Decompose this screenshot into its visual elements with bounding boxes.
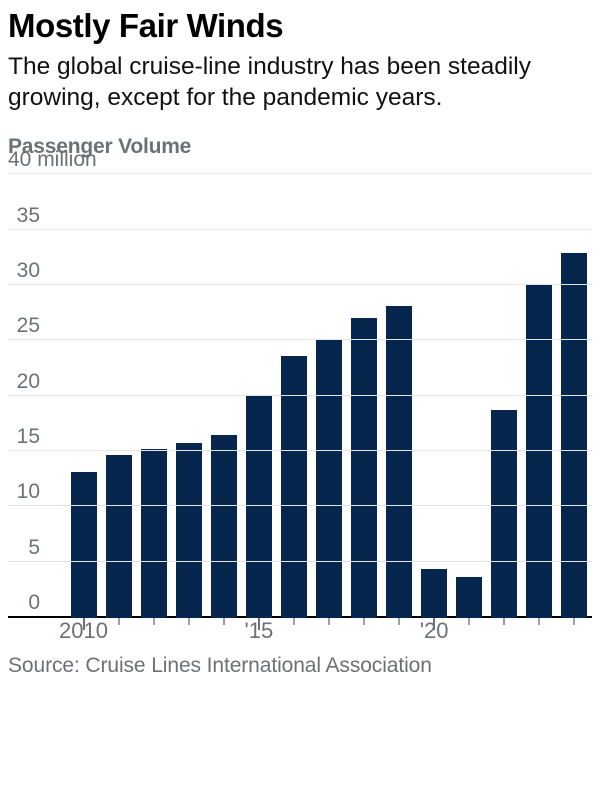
bar [491,410,517,618]
gridline [8,173,592,174]
gridline [8,395,592,396]
x-axis-labels: 2010'15'20 [66,618,592,650]
bar [246,395,272,619]
gridline [8,505,592,506]
y-axis-tick-label: 10 [8,481,40,505]
bar [386,306,412,618]
x-axis-tick-label: 2010 [59,618,108,644]
gridline [8,229,592,230]
bar-chart: 40 million35302520151050 [8,173,592,618]
y-axis-tick-label: 25 [8,315,40,339]
bar [141,449,167,618]
y-axis-tick-label: 30 [8,260,40,284]
bar [71,472,97,618]
bar [176,443,202,618]
bar [211,435,237,619]
y-axis-tick-label: 15 [8,426,40,450]
page-title: Mostly Fair Winds [8,8,592,45]
y-axis-tick-label: 0 [8,592,40,616]
source-note: Source: Cruise Lines International Assoc… [8,654,592,678]
bar [526,284,552,618]
bar-series [66,173,592,618]
y-axis-tick-label: 20 [8,371,40,395]
x-axis-tick-label: '20 [420,618,449,644]
bar [106,455,132,619]
bar [421,569,447,619]
gridline [8,284,592,285]
chart-plot-area: 40 million35302520151050 [8,173,592,618]
bar [456,577,482,618]
x-axis-tick-label: '15 [245,618,274,644]
y-axis-tick-label: 40 million [8,149,97,173]
subtitle-description: The global cruise-line industry has been… [8,52,592,113]
bar [316,339,342,618]
infographic-page: Mostly Fair Winds The global cruise-line… [0,8,600,808]
gridline [8,450,592,451]
y-axis-tick-label: 5 [8,537,40,561]
y-axis-tick-label: 35 [8,205,40,229]
bar [351,318,377,618]
gridline [8,339,592,340]
gridline [8,561,592,562]
bar [561,253,587,618]
